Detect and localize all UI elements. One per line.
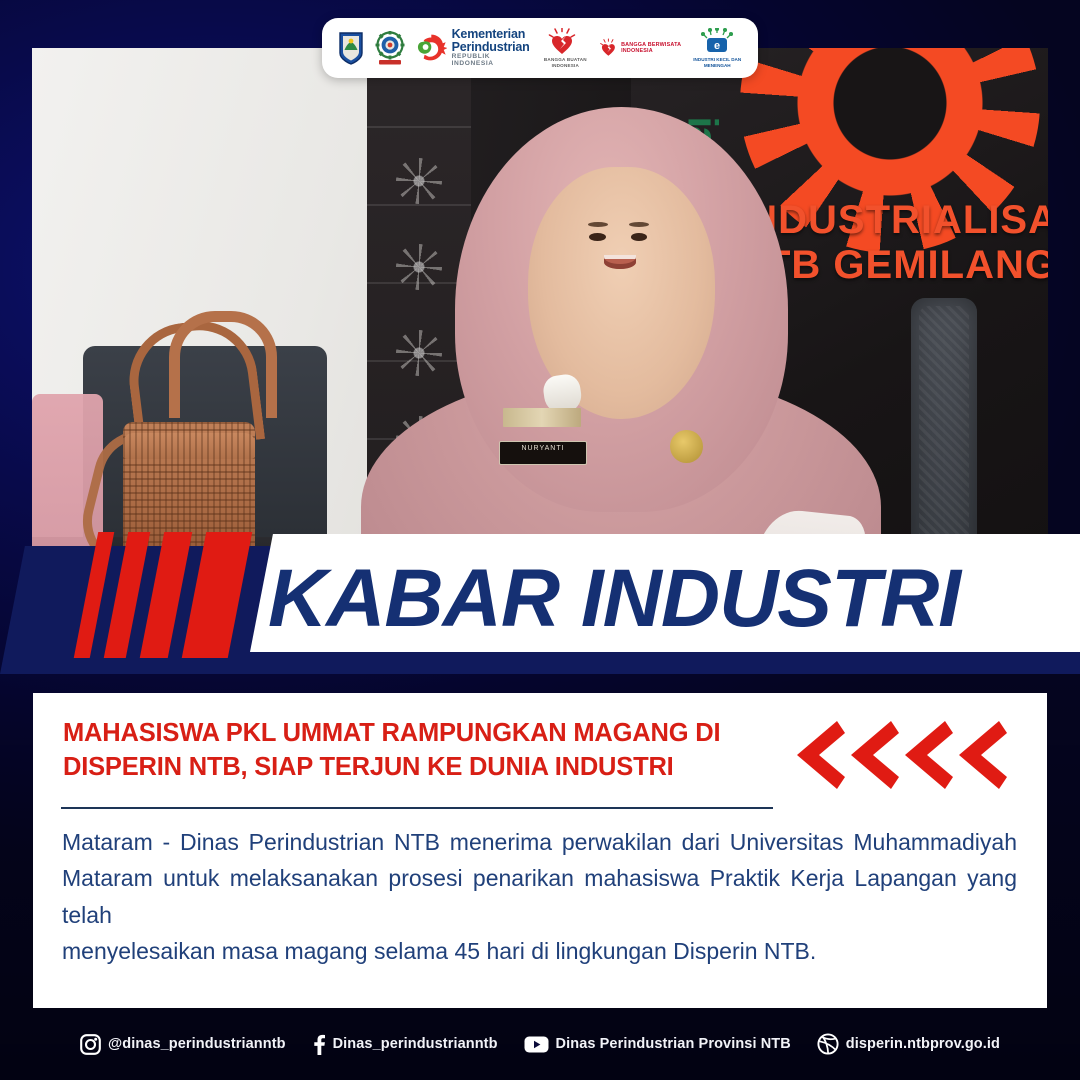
- footer-facebook[interactable]: Dinas_perindustrianntb: [312, 1034, 498, 1055]
- bbi-heart-hand-icon: [548, 28, 582, 56]
- headline-divider: [61, 807, 773, 809]
- facebook-icon: [312, 1034, 326, 1055]
- footer-instagram[interactable]: @dinas_perindustrianntb: [80, 1034, 286, 1055]
- svg-text:e: e: [714, 40, 720, 52]
- kemenperin-mark-icon: [416, 33, 447, 63]
- social-footer: @dinas_perindustrianntb Dinas_perindustr…: [0, 1026, 1080, 1062]
- article-headline: MAHASISWA PKL UMMAT RAMPUNGKAN MAGANG DI…: [63, 717, 769, 784]
- kemenperin-seal-logo: [375, 31, 405, 65]
- subject-rank-bar: [503, 408, 580, 427]
- facebook-handle: Dinas_perindustrianntb: [333, 1036, 498, 1052]
- subject-name-badge: NURYANTI: [499, 441, 586, 465]
- instagram-handle: @dinas_perindustrianntb: [108, 1036, 286, 1052]
- institution-logo-bar: Kementerian Perindustrian REPUBLIK INDON…: [322, 18, 758, 78]
- chevron-left-icon: [847, 719, 899, 791]
- subject-lapel-pin: [670, 430, 703, 463]
- industri-kecil-dan-menengah-logo: e INDUSTRI KECIL DAN MENENGAH: [692, 28, 742, 68]
- poster-canvas: INDUSTRIALISA NTB GEMILANG ia N: [0, 0, 1080, 1080]
- footer-website[interactable]: disperin.ntbprov.go.id: [817, 1033, 1000, 1055]
- bwi-heart-icon: [600, 34, 619, 62]
- chevron-left-icon: [955, 719, 1007, 791]
- bangga-berwisata-indonesia-logo: BANGGA BERWISATA INDONESIA: [600, 34, 682, 62]
- ikm-caption: INDUSTRI KECIL DAN MENENGAH: [692, 57, 742, 68]
- headline-line-2: DISPERIN NTB, SIAP TERJUN KE DUNIA INDUS…: [63, 751, 769, 785]
- body-main: Mataram - Dinas Perindustrian NTB meneri…: [62, 829, 1017, 928]
- article-body: Mataram - Dinas Perindustrian NTB meneri…: [62, 824, 1017, 969]
- article-card: MAHASISWA PKL UMMAT RAMPUNGKAN MAGANG DI…: [33, 693, 1047, 1008]
- ntb-shield-icon: [338, 31, 364, 65]
- headline-line-1: MAHASISWA PKL UMMAT RAMPUNGKAN MAGANG DI: [63, 719, 720, 747]
- banner-title: KABAR INDUSTRI: [268, 558, 1068, 640]
- bwi-caption: BANGGA BERWISATA INDONESIA: [621, 42, 681, 54]
- bangga-buatan-indonesia-logo: BANGGA BUATAN INDONESIA: [542, 28, 589, 68]
- kemenperin-gear-seal-icon: [375, 31, 405, 65]
- youtube-icon: [524, 1035, 549, 1054]
- kabar-industri-banner: KABAR INDUSTRI: [0, 524, 1080, 674]
- chevron-left-icon: [901, 719, 953, 791]
- ikm-circuit-icon: e: [701, 28, 733, 56]
- photo-bag-handle: [169, 311, 277, 418]
- website-url: disperin.ntbprov.go.id: [846, 1036, 1000, 1052]
- kemenperin-line-3: REPUBLIK INDONESIA: [452, 54, 531, 67]
- ntb-province-emblem-logo: [338, 31, 364, 65]
- footer-youtube[interactable]: Dinas Perindustrian Provinsi NTB: [524, 1035, 791, 1054]
- instagram-icon: [80, 1034, 101, 1055]
- kementerian-perindustrian-logo: Kementerian Perindustrian REPUBLIK INDON…: [416, 28, 531, 67]
- chevron-left-icon: [793, 719, 845, 791]
- chevron-decoration: [793, 719, 1007, 791]
- kemenperin-line-2: Perindustrian: [452, 41, 531, 54]
- globe-icon: [817, 1033, 839, 1055]
- youtube-handle: Dinas Perindustrian Provinsi NTB: [556, 1036, 791, 1052]
- subject-name-badge-text: NURYANTI: [500, 442, 585, 455]
- body-last-line: menyelesaikan masa magang selama 45 hari…: [62, 933, 1017, 969]
- bbi-caption: BANGGA BUATAN INDONESIA: [542, 57, 589, 68]
- photo-rattan-bag-lid: [123, 433, 255, 459]
- kementerian-perindustrian-text: Kementerian Perindustrian REPUBLIK INDON…: [452, 28, 531, 67]
